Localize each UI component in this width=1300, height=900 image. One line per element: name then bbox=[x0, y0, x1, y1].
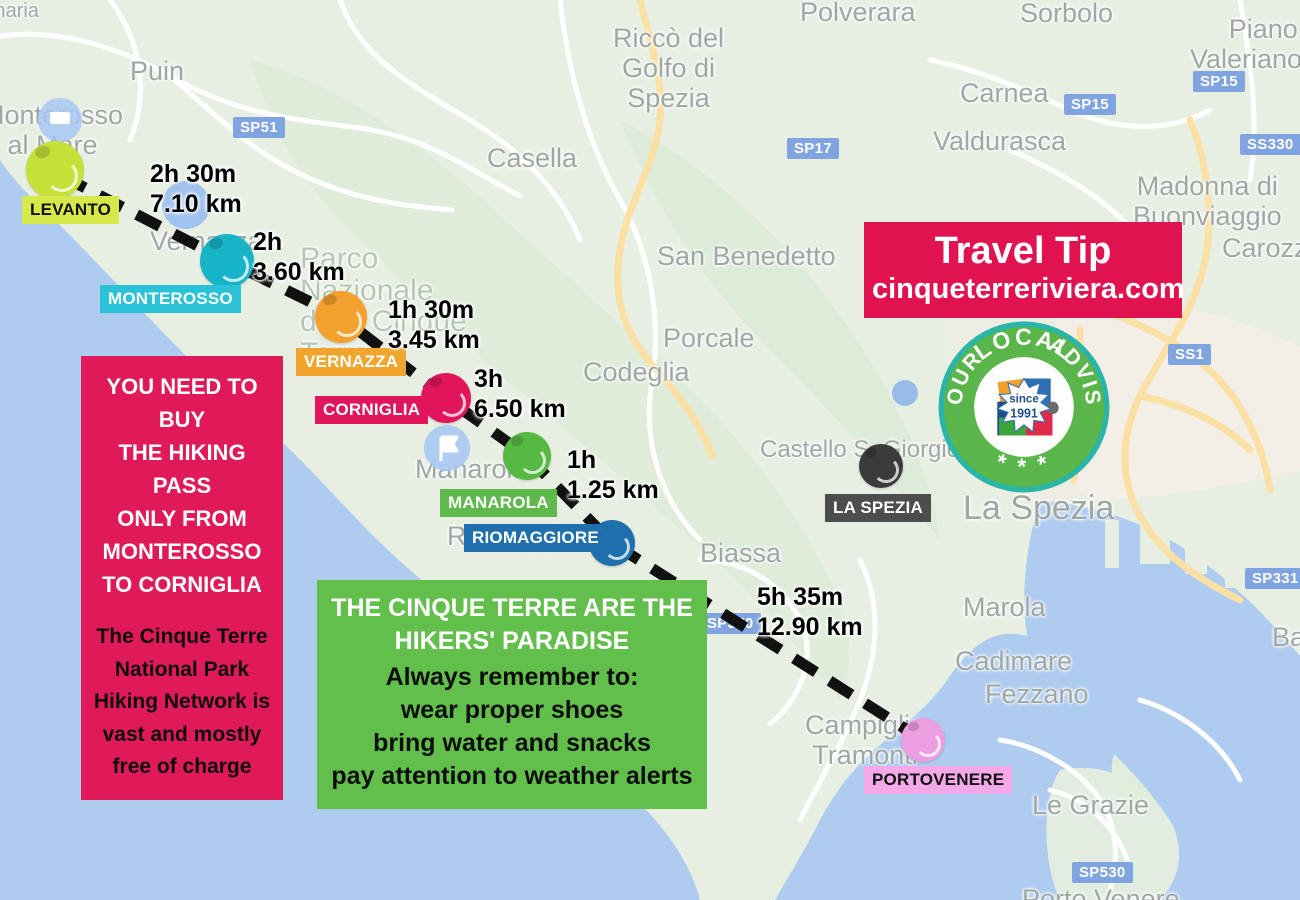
leg-time: 3h bbox=[474, 365, 566, 395]
leg-distance: 1.25 km bbox=[567, 476, 659, 506]
leg-label-corniglia-manarola: 3h6.50 km bbox=[474, 365, 566, 424]
leg-distance: 7.10 km bbox=[150, 190, 242, 220]
travel-tip-website[interactable]: cinqueterreriviera.com bbox=[872, 274, 1174, 306]
leg-time: 2h bbox=[253, 228, 345, 258]
map-infographic: PuinMonterossoal MareRiccò delGolfo diSp… bbox=[0, 0, 1300, 900]
leg-distance: 3.60 km bbox=[253, 258, 345, 288]
leg-label-levanto-monterosso: 2h 30m7.10 km bbox=[150, 160, 242, 219]
leg-distance: 12.90 km bbox=[757, 613, 863, 643]
leg-time: 5h 35m bbox=[757, 583, 863, 613]
town-marker-portovenere[interactable] bbox=[901, 718, 945, 762]
leg-time: 1h 30m bbox=[388, 296, 480, 326]
town-marker-corniglia[interactable] bbox=[421, 373, 471, 423]
town-tag-corniglia[interactable]: CORNIGLIA bbox=[315, 396, 428, 424]
logo-flags-emblem: since 1991 bbox=[997, 379, 1058, 436]
town-tag-levanto[interactable]: LEVANTO bbox=[22, 196, 119, 224]
leg-label-manarola-riomaggiore: 1h1.25 km bbox=[567, 446, 659, 505]
hikers-paradise-headline: THE CINQUE TERRE ARE THE HIKERS' PARADIS… bbox=[329, 592, 695, 657]
town-tag-laspezia[interactable]: LA SPEZIA bbox=[825, 494, 931, 522]
town-tag-riomaggiore[interactable]: RIOMAGGIORE bbox=[464, 524, 607, 552]
travel-tip-banner: Travel Tip cinqueterreriviera.com bbox=[864, 222, 1182, 318]
leg-label-monterosso-vernazza: 2h3.60 km bbox=[253, 228, 345, 287]
town-tag-manarola[interactable]: MANAROLA bbox=[440, 489, 557, 517]
town-marker-monterosso[interactable] bbox=[200, 234, 254, 288]
logo-bottom-stars: * * * bbox=[992, 448, 1056, 479]
leg-label-riomaggiore-portovenere: 5h 35m12.90 km bbox=[757, 583, 863, 642]
town-marker-laspezia[interactable] bbox=[859, 444, 903, 488]
leg-distance: 3.45 km bbox=[388, 326, 480, 356]
svg-text:since: since bbox=[1009, 394, 1039, 406]
svg-text:1991: 1991 bbox=[1010, 407, 1038, 421]
hikers-paradise-panel: THE CINQUE TERRE ARE THE HIKERS' PARADIS… bbox=[317, 580, 707, 809]
town-tag-portovenere[interactable]: PORTOVENERE bbox=[864, 766, 1012, 794]
town-marker-levanto[interactable] bbox=[26, 141, 84, 199]
leg-distance: 6.50 km bbox=[474, 395, 566, 425]
leg-time: 1h bbox=[567, 446, 659, 476]
town-marker-manarola[interactable] bbox=[503, 432, 551, 480]
hiking-pass-headline: YOU NEED TO BUYTHE HIKING PASSONLY FROM … bbox=[91, 370, 273, 601]
leg-label-vernazza-corniglia: 1h 30m3.45 km bbox=[388, 296, 480, 355]
town-tag-monterosso[interactable]: MONTEROSSO bbox=[100, 285, 241, 313]
travel-tip-title: Travel Tip bbox=[872, 232, 1174, 272]
hiking-pass-body: The Cinque Terre National ParkHiking Net… bbox=[91, 621, 273, 784]
leg-time: 2h 30m bbox=[150, 160, 242, 190]
hikers-paradise-body: Always remember to:wear proper shoesbrin… bbox=[329, 661, 695, 793]
your-local-advisor-logo: LOCAL YOUR ADVISOR * * * since 1991 bbox=[935, 318, 1113, 496]
hiking-pass-notice-panel: YOU NEED TO BUYTHE HIKING PASSONLY FROM … bbox=[81, 356, 283, 800]
town-marker-vernazza[interactable] bbox=[315, 291, 367, 343]
